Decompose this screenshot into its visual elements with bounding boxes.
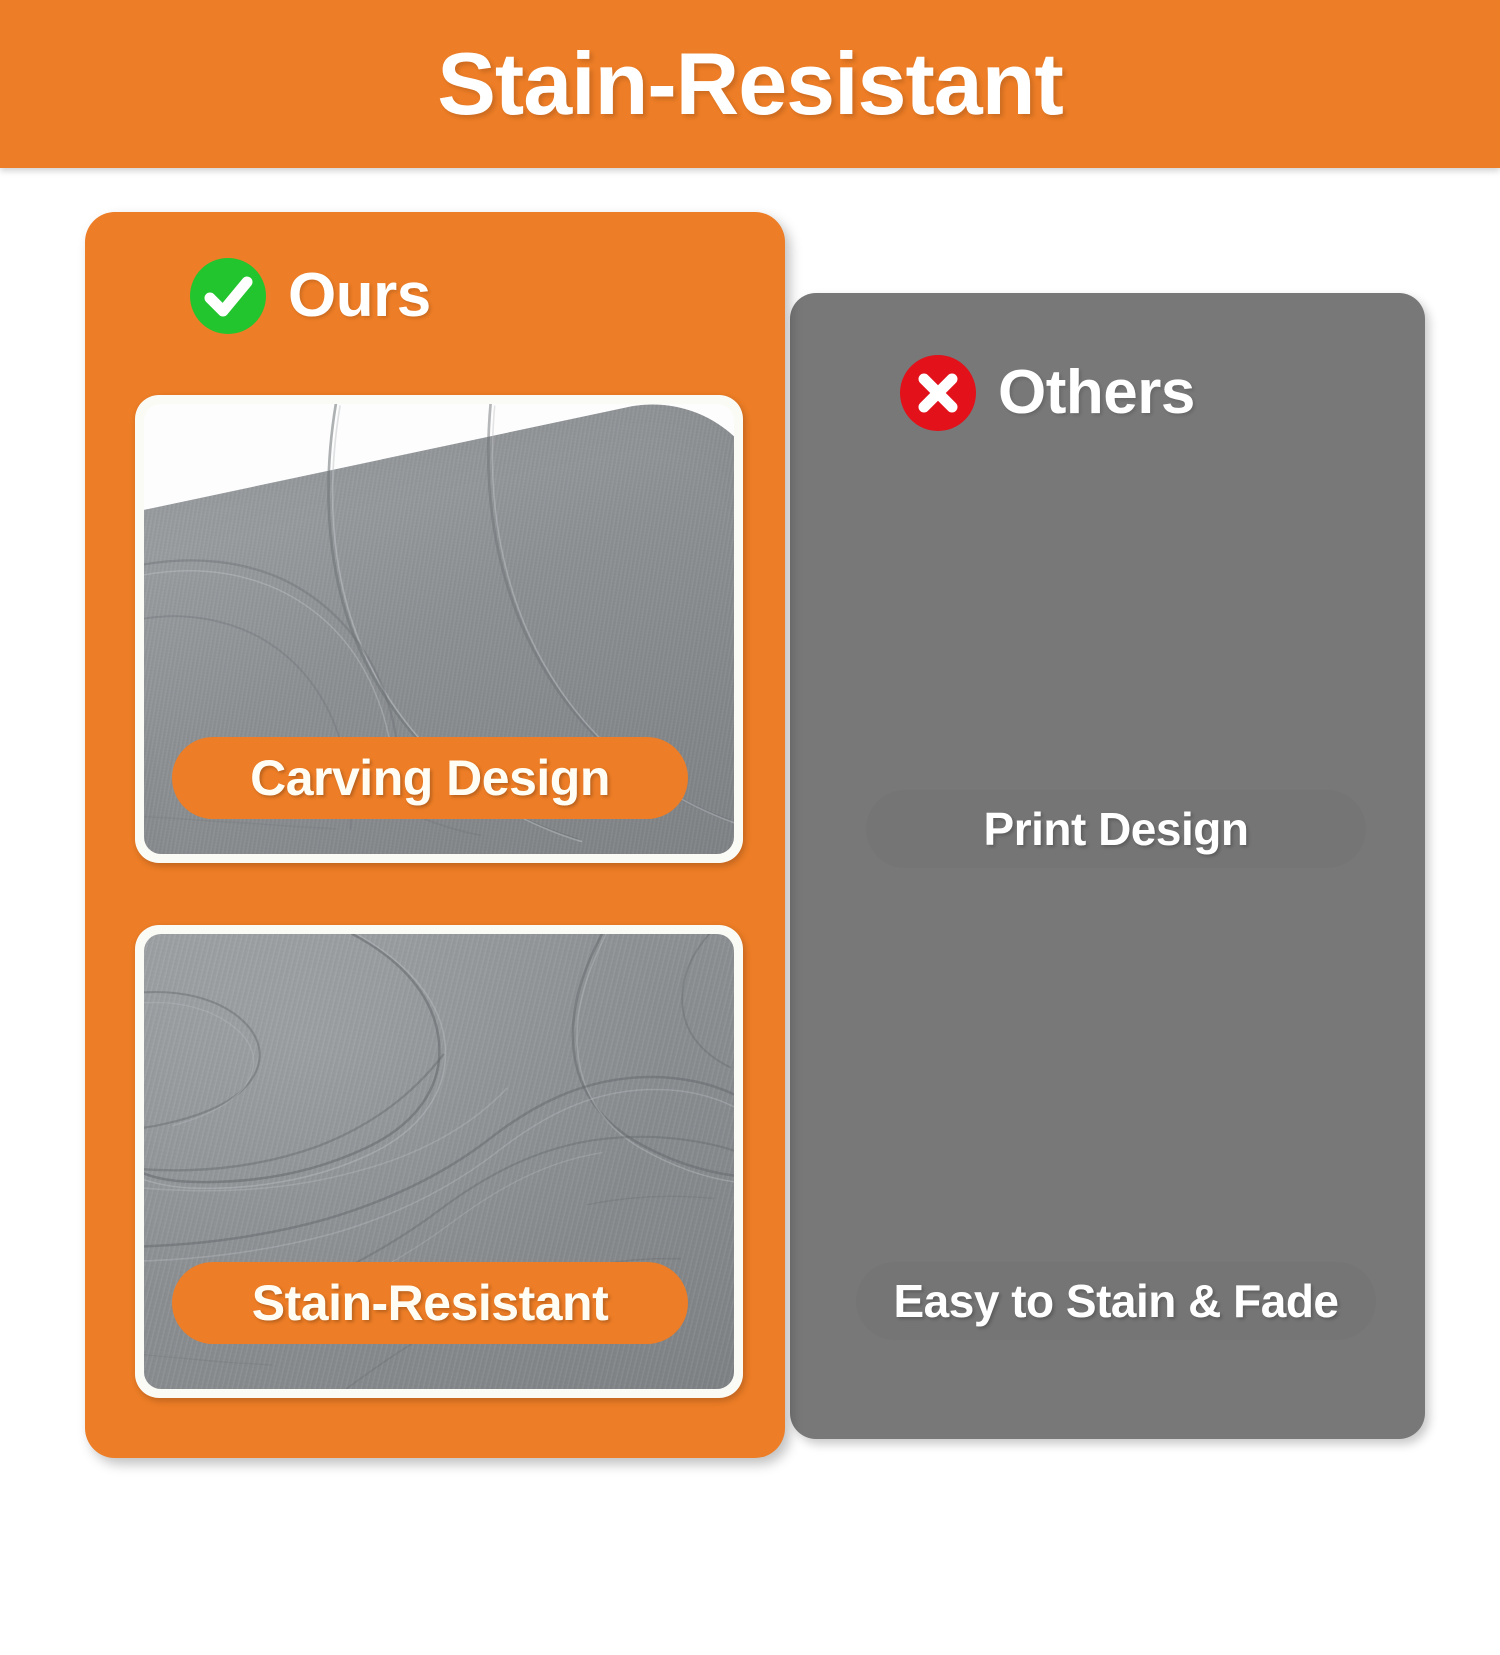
cross-circle-icon xyxy=(900,355,976,431)
ours-card-2-pill-label: Stain-Resistant xyxy=(252,1278,608,1328)
ours-card-1-pill: Carving Design xyxy=(172,737,688,819)
page-title: Stain-Resistant xyxy=(437,40,1063,128)
others-card-2-pill: Easy to Stain & Fade xyxy=(856,1262,1376,1340)
ours-heading: Ours xyxy=(190,258,431,334)
header-banner: Stain-Resistant xyxy=(0,0,1500,168)
others-heading-label: Others xyxy=(998,362,1195,424)
ours-card-2-pill: Stain-Resistant xyxy=(172,1262,688,1344)
ours-card-1-pill-label: Carving Design xyxy=(250,753,610,803)
others-card-1-pill: Print Design xyxy=(866,790,1366,868)
others-heading: Others xyxy=(900,355,1195,431)
others-card-1-pill-label: Print Design xyxy=(984,806,1249,852)
others-card-2-pill-label: Easy to Stain & Fade xyxy=(893,1278,1338,1324)
ours-heading-label: Ours xyxy=(288,265,431,327)
check-circle-icon xyxy=(190,258,266,334)
